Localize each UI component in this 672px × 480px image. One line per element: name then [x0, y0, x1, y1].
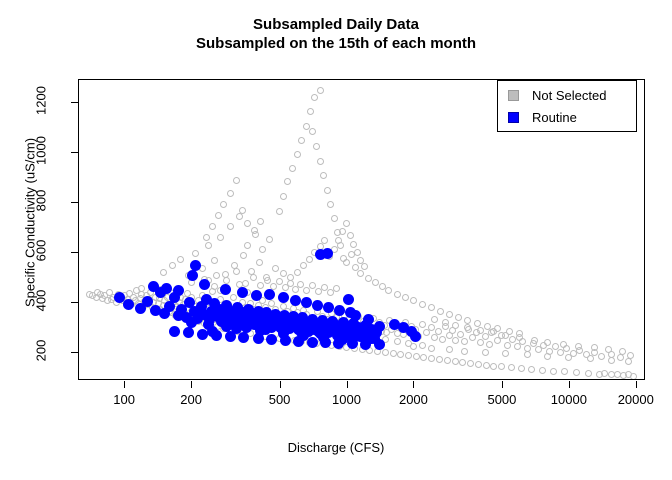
chart-canvas: Subsampled Daily Data Subsampled on the …: [0, 0, 672, 480]
x-tick-10000: [569, 381, 570, 388]
legend-swatch-not-selected-icon: [508, 90, 519, 101]
legend-label-not-selected: Not Selected: [532, 88, 606, 103]
x-tick-label-5000: 5000: [487, 392, 516, 407]
x-axis-label: Discharge (CFS): [0, 440, 672, 455]
y-tick-label-200: 200: [34, 328, 49, 374]
legend-label-routine: Routine: [532, 110, 577, 125]
x-tick-label-200: 200: [180, 392, 202, 407]
x-tick-label-1000: 1000: [332, 392, 361, 407]
chart-title: Subsampled Daily Data: [0, 16, 672, 33]
chart-subtitle: Subsampled on the 15th of each month: [0, 35, 672, 52]
x-tick-2000: [413, 381, 414, 388]
x-tick-label-100: 100: [113, 392, 135, 407]
y-tick-label-1200: 1200: [34, 77, 49, 123]
y-tick-1200: [71, 102, 78, 103]
x-tick-label-10000: 10000: [551, 392, 587, 407]
legend-item-not-selected: Not Selected: [508, 84, 606, 106]
y-tick-label-600: 600: [34, 228, 49, 274]
y-tick-800: [71, 202, 78, 203]
y-tick-label-1000: 1000: [34, 127, 49, 173]
x-tick-5000: [502, 381, 503, 388]
y-tick-400: [71, 302, 78, 303]
x-tick-20000: [636, 381, 637, 388]
x-tick-200: [191, 381, 192, 388]
x-tick-500: [280, 381, 281, 388]
y-tick-label-800: 800: [34, 177, 49, 223]
y-tick-200: [71, 352, 78, 353]
x-tick-label-20000: 20000: [618, 392, 654, 407]
legend-item-routine: Routine: [508, 106, 577, 128]
x-tick-label-2000: 2000: [399, 392, 428, 407]
y-tick-label-400: 400: [34, 278, 49, 324]
legend-swatch-routine-icon: [508, 112, 519, 123]
x-tick-label-500: 500: [269, 392, 291, 407]
y-tick-600: [71, 252, 78, 253]
x-tick-100: [124, 381, 125, 388]
x-tick-1000: [347, 381, 348, 388]
y-tick-1000: [71, 152, 78, 153]
chart-legend: Not Selected Routine: [497, 80, 637, 132]
